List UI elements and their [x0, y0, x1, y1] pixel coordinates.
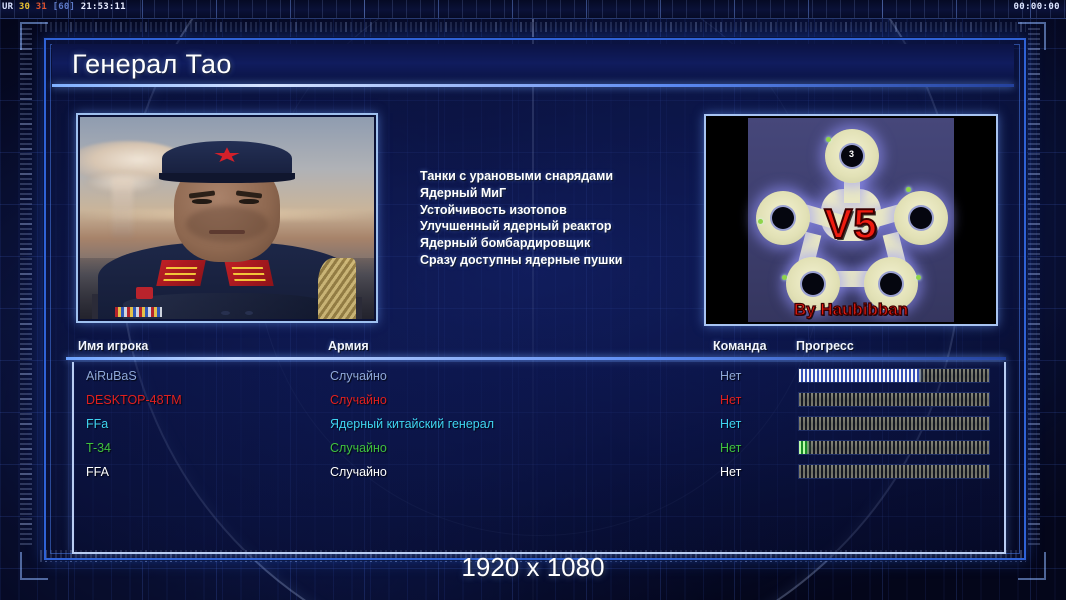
player-name[interactable]: AiRuBaS: [86, 364, 137, 388]
table-header-divider: [66, 357, 1006, 360]
mushroom-cloud-stem: [112, 178, 133, 239]
map-start-pos-c: [802, 273, 824, 295]
ruler-right: [1028, 26, 1040, 546]
progress-fill: [799, 441, 807, 454]
player-team-select[interactable]: Нет: [720, 388, 741, 412]
eye-right: [239, 199, 260, 204]
player-name[interactable]: DESKTOP-48TM: [86, 388, 182, 412]
ability-item: Ядерный бомбардировщик: [420, 235, 690, 252]
player-army-select[interactable]: Случайно: [330, 388, 387, 412]
player-progress-bar: [798, 440, 990, 455]
eye-left: [192, 199, 213, 204]
player-row-list: AiRuBaSСлучайноНетDESKTOP-48TMСлучайноНе…: [80, 364, 996, 484]
player-team-select[interactable]: Нет: [720, 436, 741, 460]
player-army-select[interactable]: Случайно: [330, 460, 387, 484]
progress-track: [799, 417, 989, 430]
table-row[interactable]: AiRuBaSСлучайноНет: [80, 364, 996, 388]
ability-item: Ядерный МиГ: [420, 185, 690, 202]
ability-item: Устойчивость изотопов: [420, 202, 690, 219]
player-team-select[interactable]: Нет: [720, 412, 741, 436]
player-progress-bar: [798, 392, 990, 407]
progress-fill: [799, 369, 919, 382]
general-portrait-image: [80, 117, 374, 319]
map-start-pos-d: [880, 273, 902, 295]
cap-brim: [159, 173, 294, 183]
hud-cell-lines: [0, 0, 1066, 18]
medal-ribbons: [115, 307, 162, 317]
player-team-select[interactable]: Нет: [720, 364, 741, 388]
hud-prefix: UR: [2, 2, 13, 12]
hud-number-2: 31: [36, 2, 47, 12]
column-header-progress: Прогресс: [796, 339, 854, 353]
player-army-select[interactable]: Случайно: [330, 436, 387, 460]
progress-track: [799, 465, 989, 478]
general-portrait-frame: [76, 113, 378, 323]
hud-timer: 00:00:00: [1013, 1, 1060, 13]
hud-clock: 21:53:11: [81, 2, 126, 12]
table-row[interactable]: FFaЯдерный китайский генералНет: [80, 412, 996, 436]
game-lobby-screen: UR 30 31 [60] 21:53:11 00:00:00 Генерал …: [0, 0, 1066, 600]
page-title: Генерал Тао: [72, 44, 232, 84]
hud-status-text: UR 30 31 [60] 21:53:11: [2, 1, 126, 13]
collar-tab-left: [157, 260, 207, 286]
ruler-left: [20, 26, 32, 546]
column-header-name: Имя игрока: [78, 339, 148, 353]
portrait-face-shadow: [186, 206, 268, 242]
general-abilities-list: Танки с урановыми снарядами Ядерный МиГ …: [420, 168, 690, 269]
ability-item: Улучшенный ядерный реактор: [420, 218, 690, 235]
resolution-label: 1920 x 1080: [0, 552, 1066, 583]
player-name[interactable]: FFA: [86, 460, 109, 484]
top-hud-bar: UR 30 31 [60] 21:53:11 00:00:00: [0, 0, 1066, 19]
hud-number-1: 30: [19, 2, 30, 12]
column-header-team: Команда: [713, 339, 767, 353]
table-row[interactable]: T-34СлучайноНет: [80, 436, 996, 460]
table-row[interactable]: DESKTOP-48TMСлучайноНет: [80, 388, 996, 412]
player-name[interactable]: T-34: [86, 436, 111, 460]
ability-item: Танки с урановыми снарядами: [420, 168, 690, 185]
player-progress-bar: [798, 464, 990, 479]
map-start-pos-b: [910, 207, 932, 229]
hud-bracket: [60]: [53, 2, 75, 12]
progress-track: [799, 393, 989, 406]
uniform-pin: [136, 287, 154, 299]
player-army-select[interactable]: Ядерный китайский генерал: [330, 412, 494, 436]
player-team-select[interactable]: Нет: [720, 460, 741, 484]
gold-aiguillette: [318, 258, 356, 319]
player-progress-bar: [798, 416, 990, 431]
player-table-panel: AiRuBaSСлучайноНетDESKTOP-48TMСлучайноНе…: [72, 362, 1006, 554]
player-progress-bar: [798, 368, 990, 383]
column-header-army: Армия: [328, 339, 369, 353]
progress-track: [799, 441, 989, 454]
player-name[interactable]: FFa: [86, 412, 108, 436]
player-table-header: Имя игрока Армия Команда Прогресс: [78, 339, 996, 357]
player-army-select[interactable]: Случайно: [330, 364, 387, 388]
mouth: [209, 230, 244, 234]
ability-item: Сразу доступны ядерные пушки: [420, 252, 690, 269]
collar-tab-right: [224, 260, 274, 286]
map-version-label: V5: [824, 200, 877, 248]
ruler-top: [40, 22, 1026, 32]
map-preview-frame[interactable]: 3 V5 By Haubibban: [704, 114, 998, 326]
table-row[interactable]: FFAСлучайноНет: [80, 460, 996, 484]
map-start-number: 3: [849, 149, 854, 159]
map-start-pos-a: [772, 207, 794, 229]
map-author-credit: By Haubibban: [794, 300, 908, 320]
map-preview-image: 3 V5 By Haubibban: [708, 118, 994, 322]
